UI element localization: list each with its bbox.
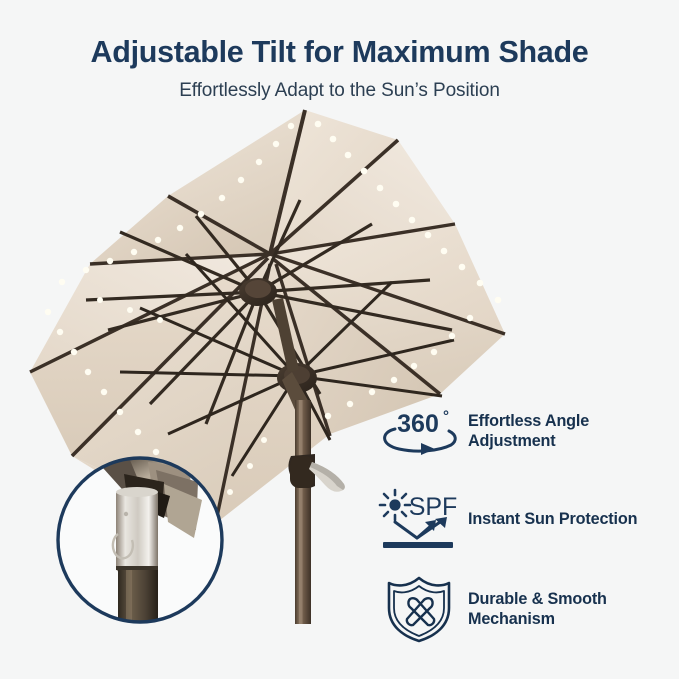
feature-label-line1: Durable & Smooth (468, 589, 607, 609)
reflection-arrows (395, 520, 443, 538)
shield-outline (389, 578, 449, 641)
feature-item-durability: Durable & Smooth Mechanism (376, 576, 679, 642)
rotation-arrowhead (421, 443, 435, 455)
page-title: Adjustable Tilt for Maximum Shade (0, 0, 679, 68)
feature-label-sun-protection: Instant Sun Protection (462, 509, 637, 529)
feature-item-angle-adjustment: 360 ° Effortless Angle Adjustment (376, 398, 679, 464)
tilt-crank-handle (288, 454, 345, 492)
header: Adjustable Tilt for Maximum Shade Effort… (0, 0, 679, 102)
feature-label-durability: Durable & Smooth Mechanism (462, 589, 607, 630)
umbrella-hub-top (239, 278, 277, 306)
spf-icon-text: SPF (409, 493, 458, 521)
feature-item-sun-protection: SPF Instant Sun Protection (376, 486, 679, 552)
protection-surface-bar (383, 542, 453, 548)
sun-core (389, 499, 400, 510)
360-icon-number: 360 (397, 410, 439, 438)
360-icon-degree-symbol: ° (443, 408, 449, 425)
crossed-wrenches (407, 598, 434, 625)
feature-label-line1: Instant Sun Protection (468, 509, 637, 529)
inset-illustration (52, 452, 228, 628)
spf-sun-protection-icon: SPF (376, 486, 462, 552)
infographic-canvas: Adjustable Tilt for Maximum Shade Effort… (0, 0, 679, 679)
shield-inner-outline (394, 586, 444, 636)
tilt-mechanism-inset (52, 452, 228, 628)
feature-label-line1: Effortless Angle (468, 411, 589, 431)
feature-list: 360 ° Effortless Angle Adjustment (376, 398, 679, 660)
feature-label-angle-adjustment: Effortless Angle Adjustment (462, 411, 589, 452)
shield-wrench-durability-icon (376, 576, 462, 642)
page-subtitle: Effortlessly Adapt to the Sun’s Position (0, 68, 679, 102)
feature-label-line2: Adjustment (468, 431, 589, 451)
feature-label-line2: Mechanism (468, 609, 607, 629)
360-degree-rotation-icon: 360 ° (376, 398, 462, 464)
